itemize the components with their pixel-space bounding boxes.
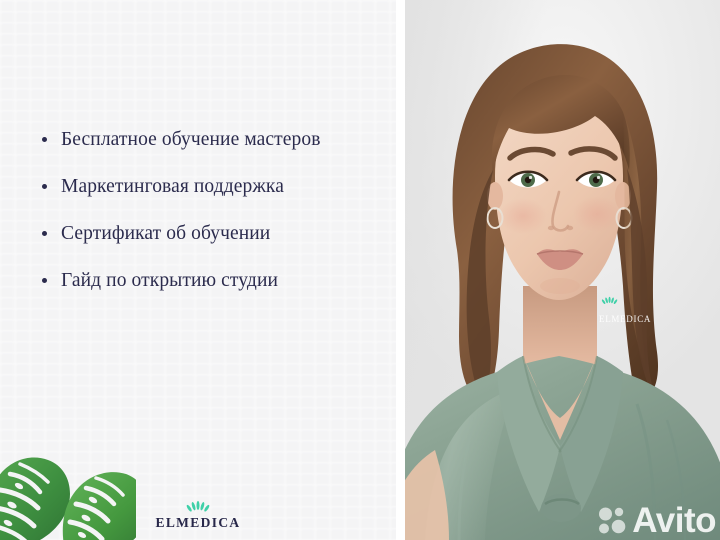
bullet-dot-icon bbox=[42, 137, 47, 142]
left-content-panel: Бесплатное обучение мастеров Маркетингов… bbox=[0, 0, 396, 540]
bullet-dot-icon bbox=[42, 278, 47, 283]
benefit-text: Сертификат об обучении bbox=[61, 223, 270, 244]
promo-slide: Бесплатное обучение мастеров Маркетингов… bbox=[0, 0, 720, 540]
benefit-text: Бесплатное обучение мастеров bbox=[61, 129, 321, 150]
benefits-list: Бесплатное обучение мастеров Маркетингов… bbox=[40, 128, 390, 292]
brand-name: ELMEDICA bbox=[0, 515, 396, 530]
list-item: Маркетинговая поддержка bbox=[40, 175, 390, 198]
model-photo: ELMEDICA Avito bbox=[405, 0, 720, 540]
benefit-text: Маркетинговая поддержка bbox=[61, 176, 284, 197]
list-item: Бесплатное обучение мастеров bbox=[40, 128, 390, 151]
leaf-fan-icon bbox=[185, 499, 211, 514]
list-item: Гайд по открытию студии bbox=[40, 269, 390, 292]
panel-divider bbox=[396, 0, 405, 540]
svg-text:ELMEDICA: ELMEDICA bbox=[599, 314, 651, 324]
bullet-dot-icon bbox=[42, 231, 47, 236]
brand-logo: ELMEDICA bbox=[0, 499, 396, 530]
bullet-dot-icon bbox=[42, 184, 47, 189]
list-item: Сертификат об обучении bbox=[40, 222, 390, 245]
benefit-text: Гайд по открытию студии bbox=[61, 270, 278, 291]
